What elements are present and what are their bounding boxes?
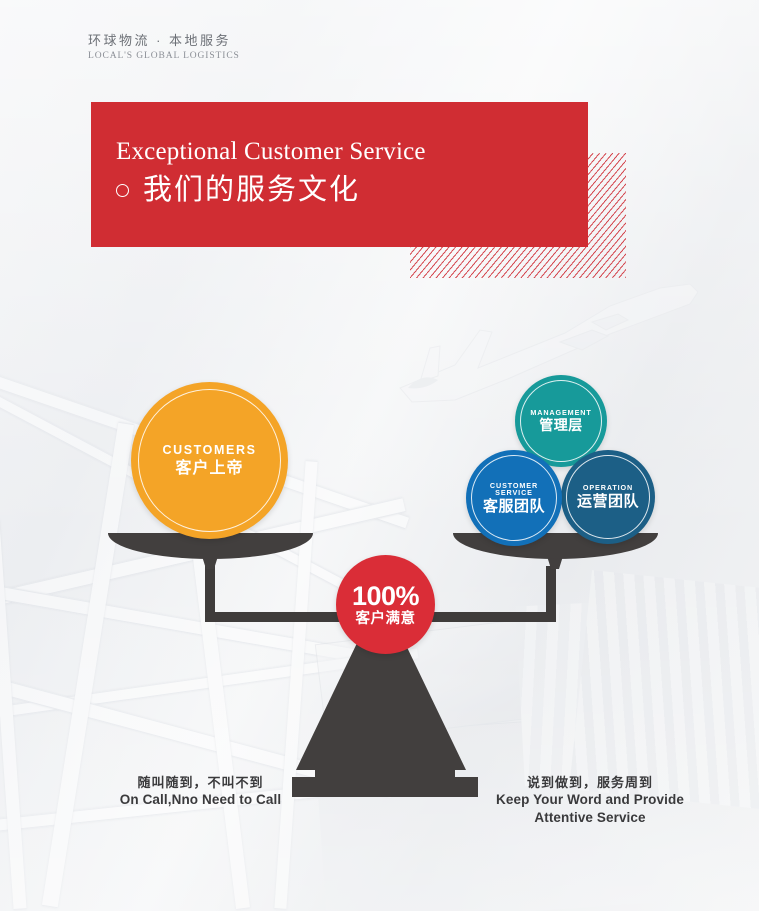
- bubble-management-english: MANAGEMENT: [530, 409, 591, 417]
- bubble-satisfaction[interactable]: 100% 客户满意: [336, 555, 435, 654]
- caption-right-english-line2: Attentive Service: [490, 810, 690, 827]
- caption-right-chinese: 说到做到，服务周到: [490, 772, 690, 791]
- caption-left-chinese: 随叫随到，不叫不到: [118, 772, 283, 791]
- bubble-customers-english: CUSTOMERS: [162, 444, 256, 457]
- caption-left: 随叫随到，不叫不到 On Call,Nno Need to Call: [118, 772, 283, 807]
- bubble-customers[interactable]: CUSTOMERS 客户上帝: [131, 382, 288, 539]
- scale-left-arm: [205, 566, 215, 622]
- bubble-customer-service-chinese: 客服团队: [483, 499, 545, 515]
- bubble-customer-service[interactable]: CUSTOMER SERVICE 客服团队: [466, 450, 562, 546]
- bubble-operation[interactable]: OPERATION 运营团队: [561, 450, 655, 544]
- scale-base-lower: [292, 777, 478, 797]
- satisfaction-label: 客户满意: [356, 612, 416, 627]
- satisfaction-value: 100%: [352, 582, 419, 610]
- caption-left-english: On Call,Nno Need to Call: [118, 792, 283, 807]
- bubble-operation-chinese: 运营团队: [577, 494, 639, 510]
- bubble-customers-chinese: 客户上帝: [175, 461, 243, 478]
- poster-canvas: 环球物流 · 本地服务 LOCAL'S GLOBAL LOGISTICS Exc…: [0, 0, 759, 911]
- bubble-operation-english: OPERATION: [583, 484, 633, 492]
- bubble-management-chinese: 管理层: [539, 418, 583, 433]
- scale-right-arm: [546, 566, 556, 622]
- bubble-customer-service-english-line2: SERVICE: [495, 489, 533, 497]
- caption-right-english-line1: Keep Your Word and Provide: [490, 792, 690, 809]
- caption-right: 说到做到，服务周到 Keep Your Word and Provide Att…: [490, 772, 690, 827]
